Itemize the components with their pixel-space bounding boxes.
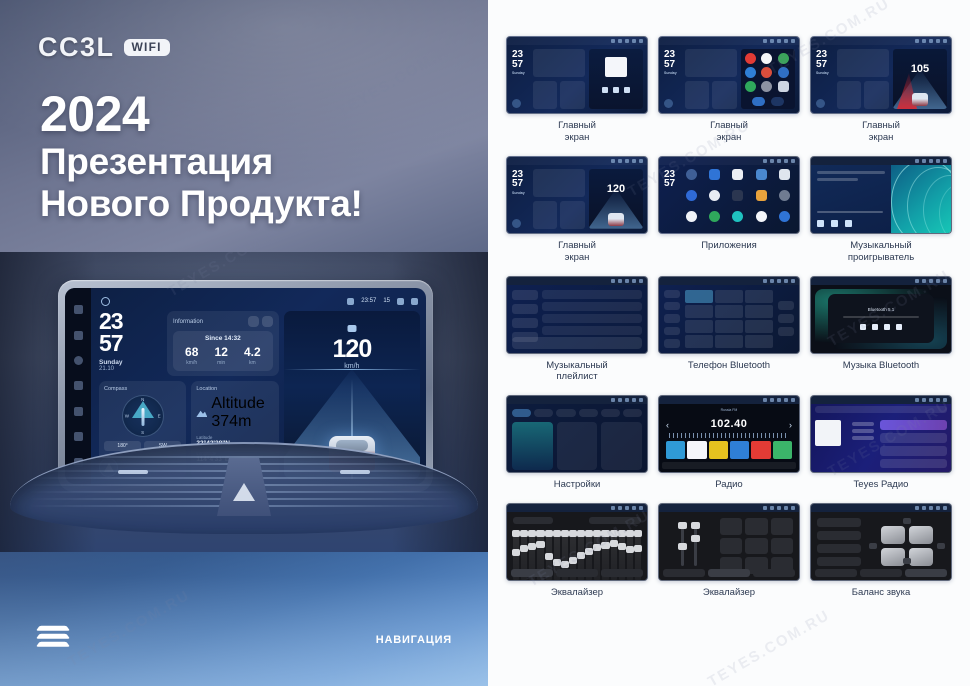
- prev-key-icon[interactable]: [74, 432, 83, 441]
- progress-bar[interactable]: [817, 211, 883, 213]
- thumb-app-shortcuts: [741, 49, 795, 109]
- thumb-dialer-layout: [659, 285, 799, 353]
- thumb-speed: 105: [893, 63, 947, 75]
- app-icon[interactable]: [686, 211, 697, 222]
- thumb-status-bar: [811, 396, 951, 404]
- preset-tile[interactable]: [709, 441, 728, 459]
- speed-unit: km/h: [284, 363, 420, 370]
- gallery-caption: Настройки: [554, 479, 601, 491]
- wifi-badge: WIFI: [124, 39, 170, 56]
- gallery-item[interactable]: 2357Sunday Главный экран: [506, 36, 648, 144]
- trip-distance-unit: km: [244, 360, 261, 366]
- expand-icon[interactable]: [262, 316, 273, 327]
- thumb-equalizer-layout: [507, 512, 647, 580]
- thumb-track-info: [811, 165, 891, 233]
- gallery-item[interactable]: 2357Sunday 105 Главный экран: [810, 36, 952, 144]
- teyes-meta: [852, 422, 874, 440]
- balance-left-icon[interactable]: [869, 543, 877, 549]
- gallery-item[interactable]: Bluetooth 5.1 Музыка Bluetooth: [810, 276, 952, 384]
- balance-rear-icon[interactable]: [903, 558, 911, 564]
- thumbnail-bluetooth-music[interactable]: Bluetooth 5.1: [810, 276, 952, 354]
- thumb-playlist-layout: [507, 285, 647, 353]
- album-art: [815, 420, 841, 446]
- thumb-status-bar: [659, 396, 799, 404]
- preset-tile[interactable]: [773, 441, 792, 459]
- app-icon[interactable]: [709, 211, 720, 222]
- thumb-speed: 120: [589, 183, 643, 195]
- power-key-icon[interactable]: [74, 356, 83, 365]
- thumb-status-bar: [659, 504, 799, 512]
- thumbnail-home-speed[interactable]: 2357Sunday 120: [506, 156, 648, 234]
- thumb-clock: 2357: [664, 170, 675, 189]
- thumb-status-bar: [811, 504, 951, 512]
- thumb-status-bar: [811, 277, 951, 285]
- speaker-rl[interactable]: [881, 548, 905, 566]
- status-time: 23:57: [361, 298, 376, 304]
- thumbnail-bluetooth-phone[interactable]: [658, 276, 800, 354]
- teyes-now-playing: [815, 408, 876, 468]
- slider-thumb[interactable]: [691, 535, 700, 542]
- thumb-settings-layout: [507, 404, 647, 472]
- clock-and-info-row: 23 57 Sunday 21.10 Information: [99, 311, 279, 376]
- information-title: Information: [173, 319, 203, 325]
- eq-preset-label: [513, 517, 553, 524]
- layers-icon: [38, 624, 68, 650]
- teyes-station-list[interactable]: [880, 408, 947, 468]
- bluetooth-version-label: Bluetooth 5.1: [868, 307, 895, 312]
- app-icon[interactable]: [709, 190, 720, 201]
- equalizer-tabs[interactable]: [663, 569, 795, 577]
- headline-year: 2024: [40, 88, 363, 141]
- back-arrow-icon[interactable]: [411, 298, 418, 305]
- brand-logo: CC3L WIFI: [38, 32, 170, 63]
- eq-band-thumb[interactable]: [512, 549, 520, 556]
- thumbnail-home-media[interactable]: 2357Sunday: [506, 36, 648, 114]
- trip-stat-row: 68 km/h 12 min: [177, 346, 269, 366]
- next-icon[interactable]: [845, 220, 852, 227]
- refresh-icon[interactable]: [248, 316, 259, 327]
- thumb-status-bar: [507, 37, 647, 45]
- next-station-icon[interactable]: ›: [789, 420, 792, 430]
- thumb-status-bar: [507, 157, 647, 165]
- thumb-status-bar: [811, 157, 951, 165]
- trip-speed-value: 68: [185, 346, 198, 358]
- home-icon[interactable]: [101, 297, 110, 306]
- thumb-bt-layout: Bluetooth 5.1: [811, 285, 951, 353]
- equalizer-header[interactable]: [513, 517, 641, 524]
- balance-front-icon[interactable]: [903, 518, 911, 524]
- app-icon[interactable]: [732, 211, 743, 222]
- status-bar-right: 23:57 15: [347, 298, 418, 305]
- eq-band-thumb[interactable]: [569, 557, 577, 564]
- trip-time-value: 12: [215, 346, 228, 358]
- settings-tabs[interactable]: [512, 409, 642, 417]
- thumbnail-music-playlist[interactable]: [506, 276, 648, 354]
- prev-icon[interactable]: [860, 324, 866, 330]
- vent-control-right[interactable]: [340, 470, 370, 474]
- compass-mark-e: E: [158, 414, 161, 419]
- thumb-clock: 2357Sunday: [512, 170, 525, 195]
- thumbnail-settings[interactable]: [506, 395, 648, 473]
- gallery-caption: Эквалайзер: [703, 587, 755, 599]
- eq-band-thumb[interactable]: [520, 545, 528, 552]
- presentation-slide: CC3L WIFI 2024 Презентация Нового Продук…: [0, 0, 970, 686]
- thumb-clock: 2357Sunday: [816, 50, 829, 75]
- thumbnail-radio[interactable]: Russia FM ‹ › 102.40: [658, 395, 800, 473]
- app-icon[interactable]: [732, 190, 743, 201]
- eq-band-thumb[interactable]: [561, 561, 569, 568]
- thumb-location-card: [560, 81, 585, 109]
- thumb-assist-icon: [512, 219, 521, 228]
- gallery-caption: Баланс звука: [852, 587, 911, 599]
- balance-presets[interactable]: [817, 518, 861, 574]
- radio-band: Russia FM: [663, 408, 795, 412]
- gallery-item[interactable]: 2357: [658, 156, 800, 264]
- gallery-caption: Радио: [715, 479, 742, 491]
- radio-presets[interactable]: [666, 441, 792, 459]
- thumb-location-card: [712, 81, 737, 109]
- vent-control-left[interactable]: [118, 470, 148, 474]
- information-header: Information: [173, 316, 273, 327]
- eq-band-thumb[interactable]: [618, 543, 626, 550]
- trip-speed-unit: km/h: [185, 360, 198, 366]
- slider-thumb[interactable]: [678, 543, 687, 550]
- compass-title: Compass: [104, 386, 181, 392]
- station-row[interactable]: [880, 433, 947, 443]
- thumbnail-sound-balance[interactable]: [810, 503, 952, 581]
- gallery-caption: Главный экран: [710, 120, 748, 144]
- thumb-status-bar: [507, 277, 647, 285]
- thumb-info-card: [837, 49, 889, 77]
- gallery-item[interactable]: Телефон Bluetooth: [658, 276, 800, 384]
- thumb-clock: 2357Sunday: [512, 50, 525, 75]
- speaker-fr[interactable]: [909, 526, 933, 544]
- bt-controls[interactable]: [860, 324, 902, 330]
- bt-panel: Bluetooth 5.1: [828, 294, 934, 343]
- eq-band-thumb[interactable]: [585, 548, 593, 555]
- trip-since: Since 14:32: [177, 335, 269, 342]
- player-controls[interactable]: [817, 220, 852, 227]
- gallery-caption: Приложения: [701, 240, 757, 252]
- wifi-icon: [347, 298, 354, 305]
- thumb-assist-icon: [816, 99, 825, 108]
- thumb-media-card: [589, 49, 643, 109]
- location-altitude: Altitude 374m: [196, 395, 273, 431]
- app-icon[interactable]: [709, 169, 720, 180]
- eq-band-thumb[interactable]: [626, 546, 634, 553]
- trip-stat-time: 12 min: [215, 346, 228, 366]
- radio-frequency: 102.40: [663, 418, 795, 430]
- car-dashboard-illustration: 23:57 15 23 57: [0, 252, 488, 552]
- altitude-value: 374m: [211, 413, 264, 431]
- gallery-caption: Teyes Радио: [854, 479, 909, 491]
- thumbnail-equalizer-simple[interactable]: [658, 503, 800, 581]
- thumbnail-home-apps[interactable]: 2357Sunday: [658, 36, 800, 114]
- back-key-icon[interactable]: [74, 407, 83, 416]
- thumb-status-bar: [507, 504, 647, 512]
- wifi-card[interactable]: [512, 422, 553, 470]
- gallery-caption: Музыка Bluetooth: [843, 360, 919, 372]
- bt-progress-bar[interactable]: [843, 316, 919, 318]
- brand-name: CC3L: [38, 32, 115, 63]
- pause-icon[interactable]: [831, 220, 838, 227]
- station-row[interactable]: [880, 459, 947, 469]
- mountain-icon: [196, 409, 207, 417]
- gallery-caption: Музыкальный плейлист: [546, 360, 607, 384]
- thumb-info-card: [533, 49, 585, 77]
- gallery-caption: Эквалайзер: [551, 587, 603, 599]
- clock-widget: 23 57 Sunday 21.10: [99, 311, 161, 376]
- clock-weekday: Sunday: [99, 359, 161, 366]
- headline-line-2: Нового Продукта!: [40, 183, 363, 225]
- gallery-caption: Главный экран: [862, 120, 900, 144]
- clock-minutes: 57: [99, 333, 161, 355]
- menu-key-icon[interactable]: [74, 305, 83, 314]
- speaker-fl[interactable]: [881, 526, 905, 544]
- app-icon[interactable]: [779, 211, 790, 222]
- thumb-info-card: [533, 169, 585, 197]
- eq-band-thumb[interactable]: [593, 544, 601, 551]
- thumb-teyes-layout: [811, 404, 951, 472]
- eq-preset-button[interactable]: [589, 517, 641, 524]
- status-bar: 23:57 15: [99, 294, 420, 308]
- thumb-clock: 2357Sunday: [664, 50, 677, 75]
- compass-mark-n: N: [141, 397, 144, 402]
- thumb-music-layout: [811, 165, 951, 233]
- thumb-radio-layout: Russia FM ‹ › 102.40: [659, 404, 799, 472]
- app-icon[interactable]: [686, 169, 697, 180]
- home-key-icon[interactable]: [74, 381, 83, 390]
- thumb-speed-panel: 120: [589, 169, 643, 229]
- gallery-item[interactable]: Настройки: [506, 395, 648, 491]
- thumb-compass-card: [533, 81, 557, 109]
- headlight-icon: [347, 325, 356, 332]
- compass-dial: N E S W: [122, 395, 164, 437]
- gallery-item[interactable]: Russia FM ‹ › 102.40: [658, 395, 800, 491]
- gallery-grid: 2357Sunday Главный экран: [506, 36, 952, 599]
- app-icon[interactable]: [756, 211, 767, 222]
- thumb-status-bar: [659, 37, 799, 45]
- gallery-caption: Музыкальный проигрыватель: [848, 240, 914, 264]
- dial-pad[interactable]: [685, 290, 773, 348]
- balance-right-icon[interactable]: [937, 543, 945, 549]
- trip-stat-speed: 68 km/h: [185, 346, 198, 366]
- thumb-assist-icon: [512, 99, 521, 108]
- eq-band-thumb[interactable]: [553, 559, 561, 566]
- speaker-rr[interactable]: [909, 548, 933, 566]
- gallery-item[interactable]: 2357Sunday 120 Главный экран: [506, 156, 648, 264]
- eq-band-thumb[interactable]: [577, 552, 585, 559]
- station-row-selected[interactable]: [880, 420, 947, 430]
- gallery-caption: Главный экран: [558, 120, 596, 144]
- gallery-caption: Телефон Bluetooth: [688, 360, 770, 372]
- balance-tabs[interactable]: [815, 569, 947, 577]
- prev-icon[interactable]: [817, 220, 824, 227]
- eq-band-thumb[interactable]: [610, 540, 618, 547]
- gallery-item[interactable]: 2357Sunday: [658, 36, 800, 144]
- thumb-assist-icon: [664, 99, 673, 108]
- radio-toolbar[interactable]: [662, 462, 796, 469]
- trip-time-unit: min: [215, 360, 228, 366]
- sound-effect-pads[interactable]: [720, 518, 793, 574]
- thumb-status-bar: [811, 37, 951, 45]
- eq-band-thumb[interactable]: [545, 553, 553, 560]
- physical-key-rail[interactable]: [65, 288, 91, 484]
- altitude-label: Altitude: [211, 395, 264, 413]
- thumbnail-teyes-radio[interactable]: [810, 395, 952, 473]
- track-artist-line: [817, 178, 858, 181]
- headline-line-1: Презентация: [40, 141, 363, 183]
- eq-band-thumb[interactable]: [536, 541, 544, 548]
- bass-treble-sliders[interactable]: [665, 518, 714, 574]
- thumb-lane-panel: 105: [893, 49, 947, 109]
- thumb-status-bar: [659, 277, 799, 285]
- eq-band-thumb[interactable]: [528, 543, 536, 550]
- clock-date: 21.10: [99, 366, 161, 372]
- thumb-location-card: [864, 81, 889, 109]
- app-icon[interactable]: [756, 169, 767, 180]
- gallery-item[interactable]: Баланс звука: [810, 503, 952, 599]
- gallery-item[interactable]: Эквалайзер: [506, 503, 648, 599]
- gear-icon[interactable]: [397, 298, 404, 305]
- preset-tile[interactable]: [687, 441, 706, 459]
- information-widget[interactable]: Information Since 14:32: [167, 311, 279, 376]
- settings-cards[interactable]: [512, 422, 642, 470]
- trip-distance-value: 4.2: [244, 346, 261, 358]
- thumbnail-home-lane-warning[interactable]: 2357Sunday 105: [810, 36, 952, 114]
- thumbnail-equalizer[interactable]: [506, 503, 648, 581]
- more-card[interactable]: [601, 422, 642, 470]
- screenshot-gallery: 2357Sunday Главный экран: [488, 0, 970, 686]
- thumb-info-card: [685, 49, 737, 77]
- trip-stat-distance: 4.2 km: [244, 346, 261, 366]
- prev-station-icon[interactable]: ‹: [666, 420, 669, 430]
- thumbnail-apps[interactable]: 2357: [658, 156, 800, 234]
- gallery-caption: Главный экран: [558, 240, 596, 264]
- thumb-app-grid: [681, 169, 795, 229]
- preset-tile[interactable]: [666, 441, 685, 459]
- eq-band-thumb[interactable]: [634, 545, 642, 552]
- gallery-item[interactable]: Teyes Радио: [810, 395, 952, 491]
- hazard-triangle-icon: [233, 483, 255, 501]
- thumb-location-card: [560, 201, 585, 229]
- playlist-player-bar[interactable]: [512, 337, 642, 349]
- radio-tuning-scale[interactable]: [669, 433, 789, 438]
- hero-panel: CC3L WIFI 2024 Презентация Нового Продук…: [0, 0, 488, 686]
- balance-field[interactable]: [869, 518, 945, 574]
- navigation-label: НАВИГАЦИЯ: [376, 634, 452, 646]
- dashboard-air-vent: [10, 442, 478, 534]
- preset-tile[interactable]: [751, 441, 770, 459]
- dialer-sidebar[interactable]: [664, 290, 680, 348]
- gallery-item[interactable]: Музыкальный проигрыватель: [810, 156, 952, 264]
- gallery-item[interactable]: Музыкальный плейлист: [506, 276, 648, 384]
- app-icon[interactable]: [779, 169, 790, 180]
- volume-key-icon[interactable]: [74, 331, 83, 340]
- trip-stats: Since 14:32 68 km/h 12: [173, 331, 273, 371]
- stop-icon[interactable]: [884, 324, 890, 330]
- thumb-compass-card: [533, 201, 557, 229]
- hotspot-card[interactable]: [557, 422, 598, 470]
- thumb-visualizer: [891, 165, 951, 233]
- dialer-actions[interactable]: [778, 290, 794, 348]
- page-title: 2024 Презентация Нового Продукта!: [40, 88, 363, 225]
- eq-band-thumb[interactable]: [601, 542, 609, 549]
- speed-value: 120: [284, 335, 420, 364]
- thumb-car-icon: [912, 93, 928, 106]
- equalizer-tabs[interactable]: [511, 569, 643, 577]
- play-pause-icon[interactable]: [872, 324, 878, 330]
- compass-needle-icon: [141, 408, 144, 426]
- app-icon[interactable]: [732, 169, 743, 180]
- app-icon[interactable]: [756, 190, 767, 201]
- next-icon[interactable]: [896, 324, 902, 330]
- thumb-status-bar: [507, 396, 647, 404]
- status-volume: 15: [383, 298, 390, 304]
- gallery-item[interactable]: Эквалайзер: [658, 503, 800, 599]
- thumb-car-icon: [608, 213, 624, 226]
- location-title: Location: [196, 386, 273, 392]
- app-icon[interactable]: [686, 190, 697, 201]
- thumbnail-music-player[interactable]: [810, 156, 952, 234]
- thumb-compass-card: [837, 81, 861, 109]
- preset-tile[interactable]: [730, 441, 749, 459]
- thumb-status-bar: [659, 157, 799, 165]
- track-title-line: [817, 171, 885, 174]
- station-row[interactable]: [880, 446, 947, 456]
- compass-mark-s: S: [141, 430, 144, 435]
- thumb-compass-card: [685, 81, 709, 109]
- compass-mark-w: W: [125, 414, 129, 419]
- app-icon[interactable]: [779, 190, 790, 201]
